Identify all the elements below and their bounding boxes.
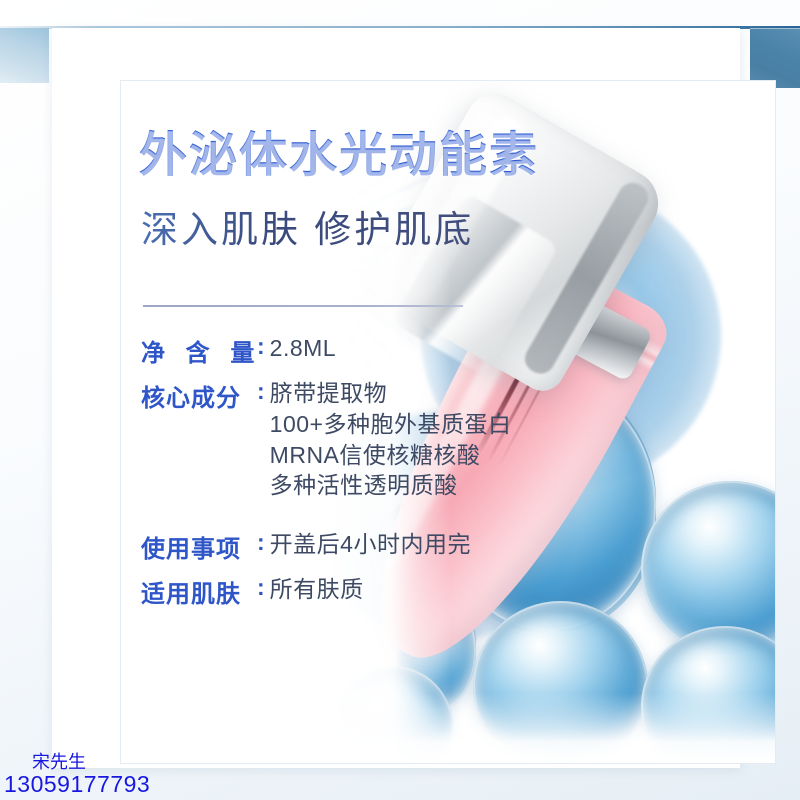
spec-value-line: 开盖后4小时内用完 [270, 529, 571, 560]
product-subtitle: 深入肌肤 修护肌底 [141, 199, 474, 253]
spec-label-core-ingredients: 核心成分 [141, 378, 259, 413]
spec-label-net-volume: 净 含 量 [141, 333, 259, 368]
spec-row-suitable-skin: 适用肌肤 : 所有肤质 [141, 574, 571, 609]
specification-list: 净 含 量 : 2.8ML 核心成分 : 脐带提取物 100+多种胞外基质蛋白 … [141, 333, 571, 619]
contact-watermark: 宋先生 13059177793 [4, 753, 150, 796]
spec-label-usage-note: 使用事项 [141, 529, 259, 564]
spec-value-line: 2.8ML [270, 333, 571, 364]
watermark-phone-number: 13059177793 [4, 772, 150, 796]
spec-value-line: 100+多种胞外基质蛋白 [270, 409, 571, 440]
spec-value-usage-note: 开盖后4小时内用完 [270, 529, 571, 560]
spec-row-net-volume: 净 含 量 : 2.8ML [141, 333, 571, 368]
product-title: 外泌体水光动能素 [139, 115, 539, 185]
spec-colon: : [257, 333, 265, 360]
product-text-block: 外泌体水光动能素 深入肌肤 修护肌底 净 含 量 : 2.8ML 核心成分 : … [121, 81, 775, 763]
spec-value-line: 所有肤质 [270, 574, 571, 605]
outer-white-frame: 外泌体水光动能素 深入肌肤 修护肌底 净 含 量 : 2.8ML 核心成分 : … [52, 28, 740, 768]
spec-value-suitable-skin: 所有肤质 [270, 574, 571, 605]
spec-value-line: 脐带提取物 [270, 378, 571, 409]
spec-value-line: MRNA信使核糖核酸 [270, 440, 571, 471]
corner-accent-square-right [750, 28, 800, 88]
spec-label-suitable-skin: 适用肌肤 [141, 574, 259, 609]
spec-colon: : [257, 529, 265, 556]
product-info-card: 外泌体水光动能素 深入肌肤 修护肌底 净 含 量 : 2.8ML 核心成分 : … [120, 80, 776, 764]
spec-value-net-volume: 2.8ML [270, 333, 571, 364]
spec-colon: : [257, 574, 265, 601]
spec-colon: : [257, 378, 265, 405]
spec-row-usage-note: 使用事项 : 开盖后4小时内用完 [141, 529, 571, 564]
title-divider [143, 305, 463, 307]
watermark-contact-name: 宋先生 [32, 753, 150, 772]
spec-value-core-ingredients: 脐带提取物 100+多种胞外基质蛋白 MRNA信使核糖核酸 多种活性透明质酸 [270, 378, 571, 501]
spec-value-line: 多种活性透明质酸 [270, 470, 571, 501]
corner-accent-square-left [0, 28, 49, 83]
spec-row-core-ingredients: 核心成分 : 脐带提取物 100+多种胞外基质蛋白 MRNA信使核糖核酸 多种活… [141, 378, 571, 501]
